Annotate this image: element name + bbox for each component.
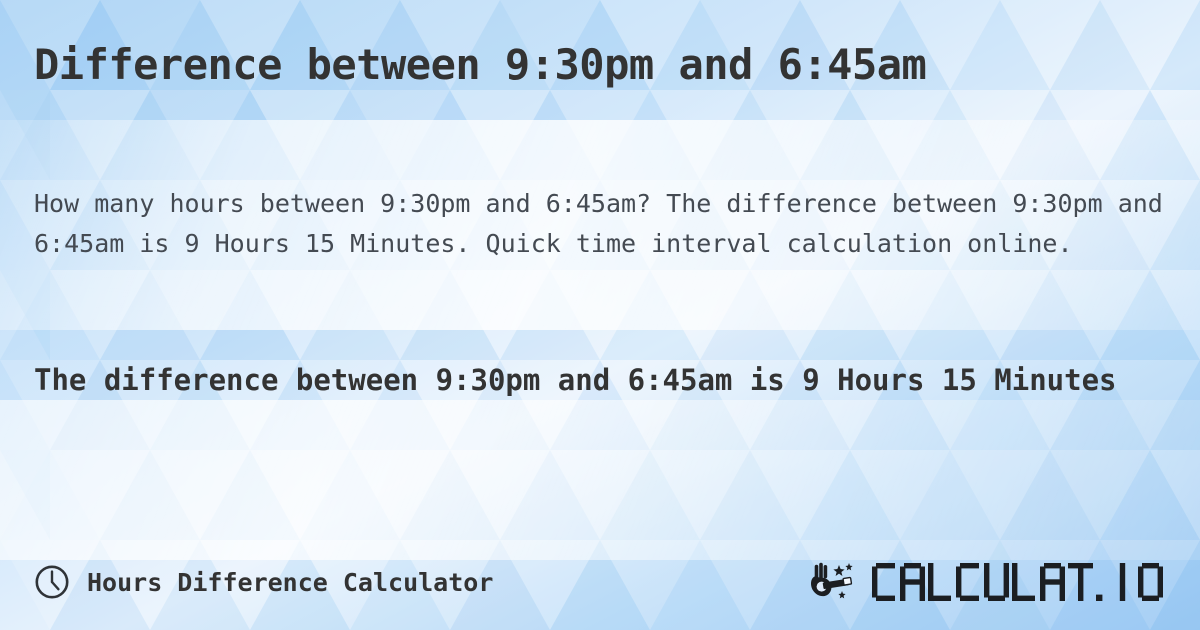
description-text: How many hours between 9:30pm and 6:45am… [34, 184, 1164, 264]
clock-icon [34, 564, 70, 600]
logo-char-c [872, 563, 897, 601]
logo-char-t [1068, 563, 1093, 601]
content-area: Difference between 9:30pm and 6:45am How… [0, 0, 1200, 630]
footer-brand-label: Hours Difference Calculator [87, 568, 493, 597]
logo-char-a2 [1040, 563, 1065, 601]
logo-char-c2 [956, 563, 981, 601]
logo-char-a1 [900, 563, 925, 601]
logo-char-u1 [984, 563, 1009, 601]
magic-wand-hand-icon [808, 560, 864, 604]
logo-char-l2 [1012, 563, 1037, 601]
page-title: Difference between 9:30pm and 6:45am [34, 42, 1166, 88]
page-root: Difference between 9:30pm and 6:45am How… [0, 0, 1200, 630]
result-statement: The difference between 9:30pm and 6:45am… [34, 355, 1144, 405]
logo-char-o [1138, 563, 1163, 601]
site-logo[interactable] [808, 560, 1166, 604]
logo-char-i [1110, 563, 1135, 601]
logo-wordmark [872, 563, 1166, 601]
logo-char-dot [1096, 563, 1107, 601]
logo-char-l1 [928, 563, 953, 601]
footer: Hours Difference Calculator [34, 556, 1180, 608]
footer-brand[interactable]: Hours Difference Calculator [34, 564, 493, 600]
